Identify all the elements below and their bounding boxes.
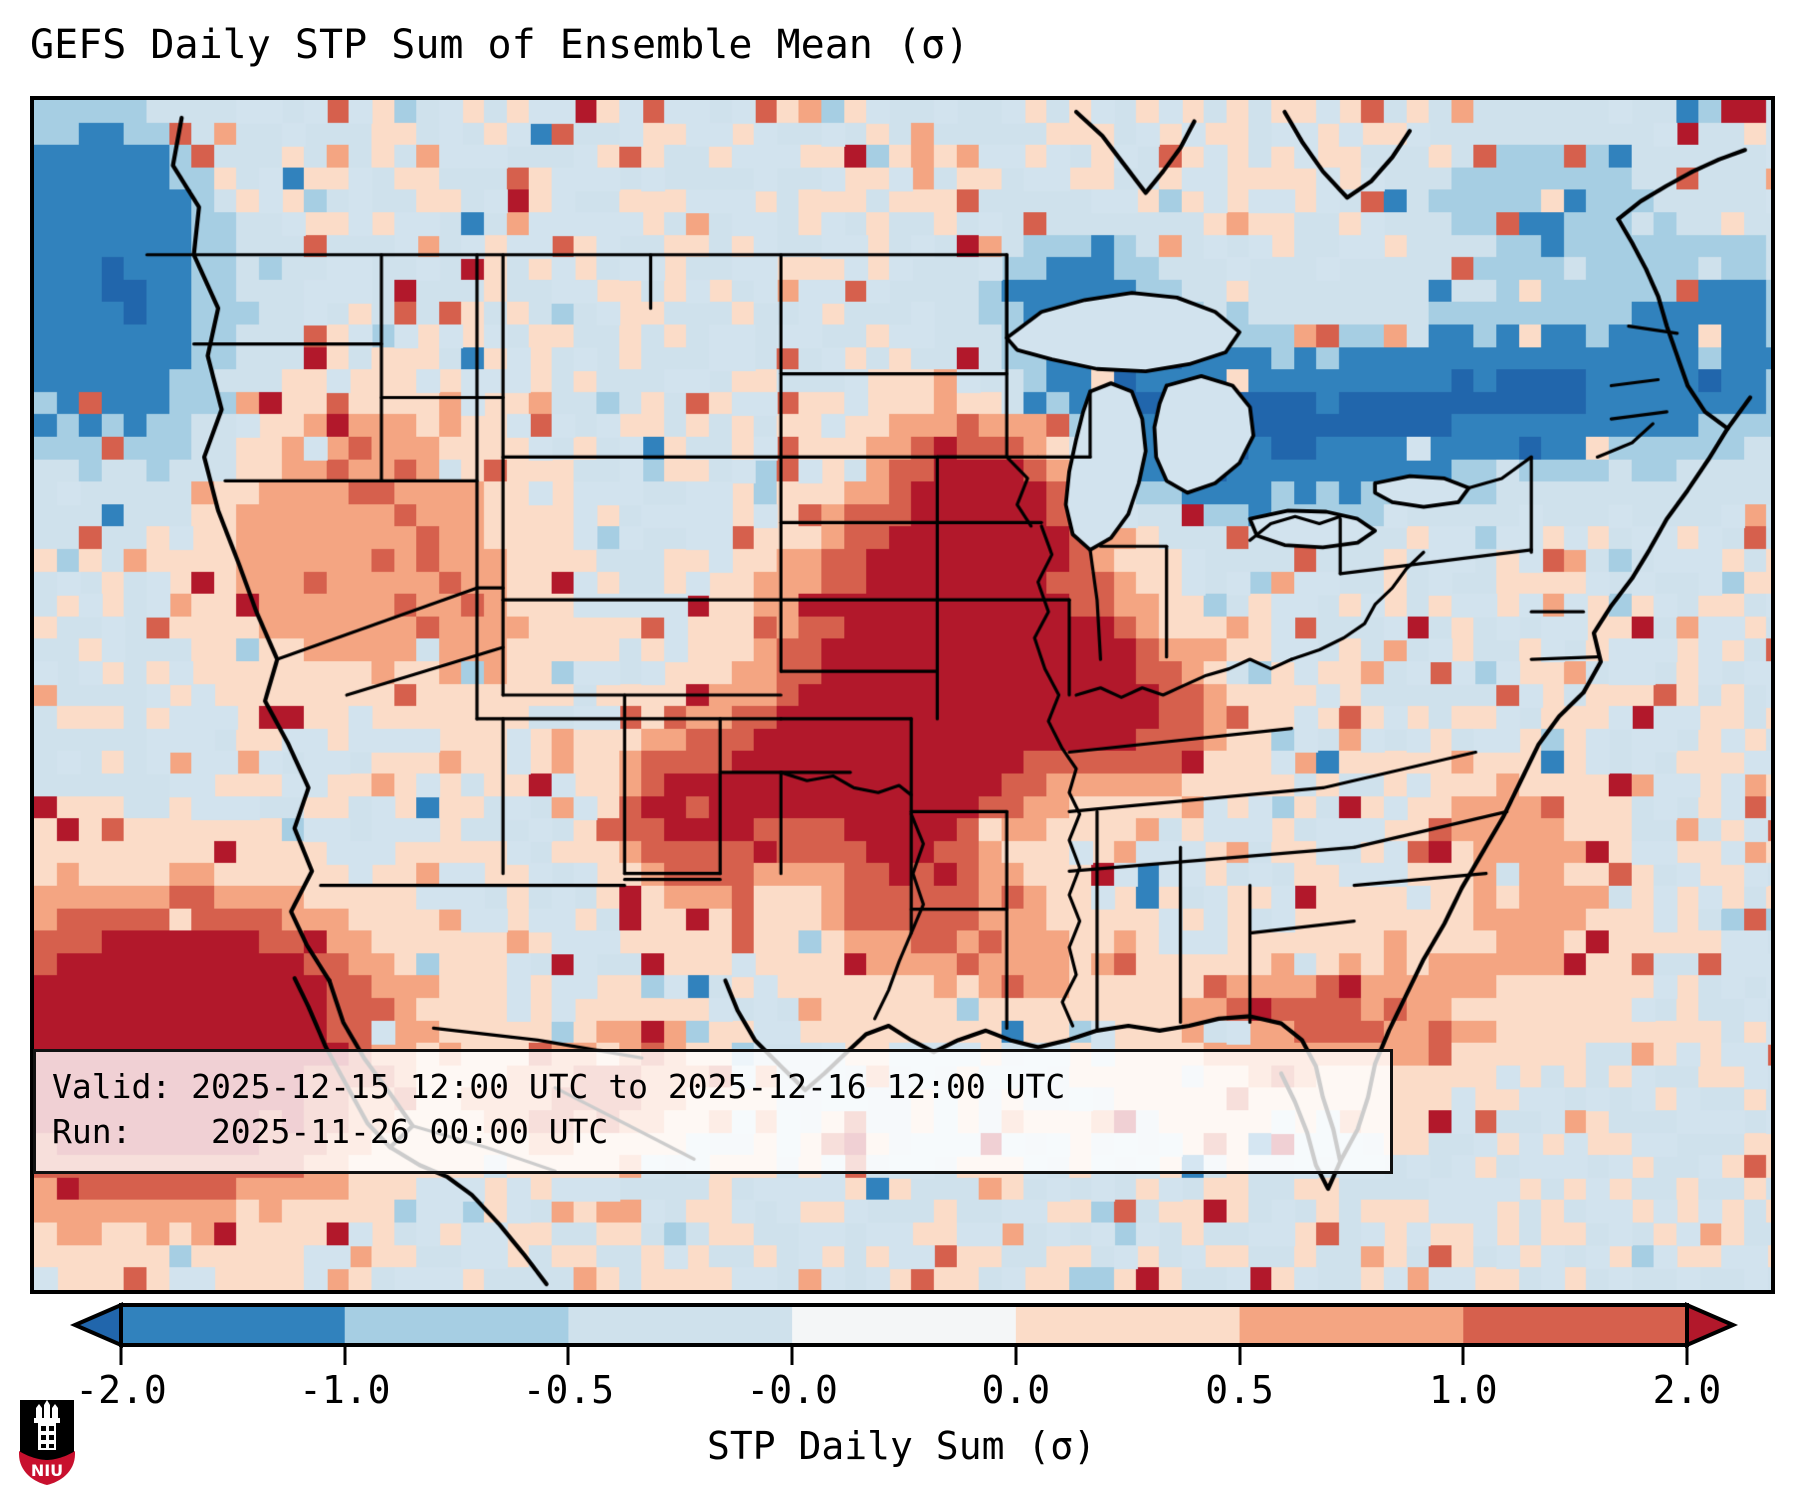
figure-root: GEFS Daily STP Sum of Ensemble Mean (σ) … <box>0 0 1803 1506</box>
colorbar-tick-2 <box>567 1345 570 1365</box>
colorbar[interactable] <box>75 1305 1733 1345</box>
colorbar-tick-label-2: -0.5 <box>523 1368 615 1412</box>
colorbar-tick-label-5: 0.5 <box>1205 1368 1274 1412</box>
colorbar-segments <box>121 1305 1688 1345</box>
colorbar-tick-7 <box>1686 1345 1689 1365</box>
annotation-run-line: Run: 2025-11-26 00:00 UTC <box>52 1110 1374 1155</box>
colorbar-tick-label-1: -1.0 <box>299 1368 391 1412</box>
colorbar-tick-1 <box>343 1345 346 1365</box>
colorbar-segment-4 <box>1016 1305 1240 1345</box>
colorbar-tick-0 <box>120 1345 123 1365</box>
colorbar-axis-label: STP Daily Sum (σ) <box>0 1424 1803 1468</box>
annotation-valid-line: Valid: 2025-12-15 12:00 UTC to 2025-12-1… <box>52 1065 1374 1110</box>
niu-logo-text: NIU <box>31 1461 63 1480</box>
page-title: GEFS Daily STP Sum of Ensemble Mean (σ) <box>30 22 969 68</box>
colorbar-segment-2 <box>568 1305 792 1345</box>
colorbar-tick-6 <box>1462 1345 1465 1365</box>
colorbar-tick-label-3: -0.0 <box>746 1368 838 1412</box>
colorbar-tick-label-6: 1.0 <box>1429 1368 1498 1412</box>
colorbar-tick-label-7: 2.0 <box>1653 1368 1722 1412</box>
colorbar-segment-3 <box>792 1305 1016 1345</box>
colorbar-tick-labels: -2.0-1.0-0.5-0.00.00.51.02.0 <box>75 1368 1733 1416</box>
colorbar-tick-label-4: 0.0 <box>982 1368 1051 1412</box>
niu-logo: NIU <box>16 1396 78 1488</box>
colorbar-tick-4 <box>1014 1345 1017 1365</box>
colorbar-ticks <box>75 1345 1733 1367</box>
valid-run-annotation-box: Valid: 2025-12-15 12:00 UTC to 2025-12-1… <box>33 1049 1393 1174</box>
niu-shield-icon: NIU <box>16 1396 78 1488</box>
colorbar-segment-0 <box>121 1305 345 1345</box>
colorbar-extend-right-arrow <box>1687 1305 1733 1345</box>
colorbar-svg <box>75 1305 1733 1345</box>
colorbar-tick-3 <box>791 1345 794 1365</box>
colorbar-tick-5 <box>1238 1345 1241 1365</box>
colorbar-segment-6 <box>1463 1305 1687 1345</box>
colorbar-segment-1 <box>345 1305 569 1345</box>
colorbar-segment-5 <box>1240 1305 1464 1345</box>
colorbar-extend-left-arrow <box>75 1305 121 1345</box>
colorbar-tick-label-0: -2.0 <box>75 1368 167 1412</box>
